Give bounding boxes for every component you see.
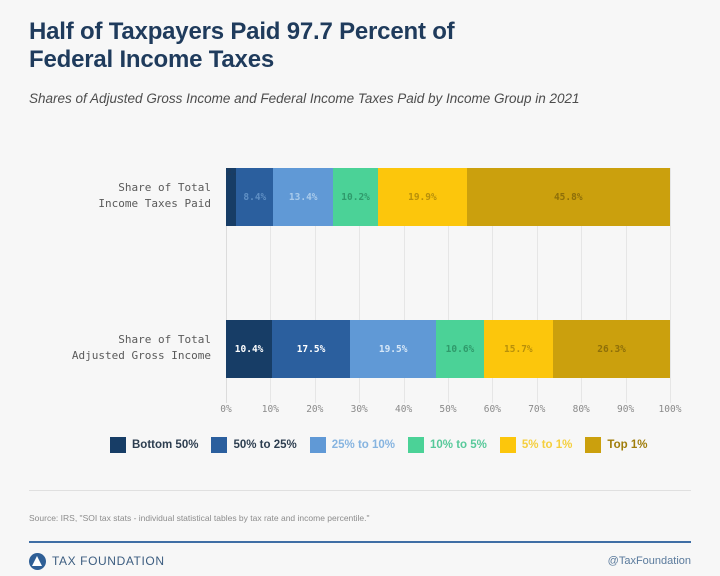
legend-swatch-icon: [585, 437, 601, 453]
footer-divider: [29, 541, 691, 543]
x-tick-label: 70%: [528, 404, 545, 415]
x-tick-label: 20%: [306, 404, 323, 415]
x-tick-label: 10%: [262, 404, 279, 415]
legend-item[interactable]: 10% to 5%: [408, 437, 487, 453]
page-title: Half of Taxpayers Paid 97.7 Percent of F…: [29, 18, 509, 75]
x-tick-label: 60%: [484, 404, 501, 415]
x-tick-label: 80%: [573, 404, 590, 415]
x-tick-label: 90%: [617, 404, 634, 415]
legend-item[interactable]: 5% to 1%: [500, 437, 573, 453]
bar-segment: 19.9%: [378, 168, 466, 226]
legend-label: 50% to 25%: [233, 439, 296, 451]
bar-segment-callout-label: 2.3%: [226, 168, 236, 178]
category-label-line2: Income Taxes Paid: [36, 196, 211, 212]
bar-segment: 17.5%: [272, 320, 350, 378]
plot-area: 2.3%8.4%13.4%10.2%19.9%45.8% 10.4%17.5%1…: [226, 148, 670, 403]
tax-foundation-logo-icon: [29, 553, 46, 570]
legend-label: 10% to 5%: [430, 439, 487, 451]
bar-segment: 8.4%: [236, 168, 273, 226]
legend-swatch-icon: [211, 437, 227, 453]
x-tick-label: 30%: [351, 404, 368, 415]
legend-item[interactable]: Bottom 50%: [110, 437, 198, 453]
footer: TAX FOUNDATION @TaxFoundation: [29, 549, 691, 573]
chart-canvas: Half of Taxpayers Paid 97.7 Percent of F…: [0, 0, 720, 576]
chart-subtitle: Shares of Adjusted Gross Income and Fede…: [29, 89, 659, 108]
bar-segment: 2.3%: [226, 168, 236, 226]
x-tick-label: 0%: [220, 404, 231, 415]
bar-segment: 45.8%: [467, 168, 670, 226]
footer-social-handle: @TaxFoundation: [608, 555, 691, 567]
x-axis: 0%10%20%30%40%50%60%70%80%90%100%: [226, 404, 670, 422]
source-divider: [29, 490, 691, 491]
bar-segment: 13.4%: [273, 168, 332, 226]
chart-legend: Bottom 50%50% to 25%25% to 10%10% to 5%5…: [110, 437, 710, 453]
footer-brand-text: TAX FOUNDATION: [52, 554, 165, 568]
bar-segment: 26.3%: [553, 320, 670, 378]
legend-swatch-icon: [110, 437, 126, 453]
category-label-line2: Adjusted Gross Income: [36, 348, 211, 364]
x-tick-label: 40%: [395, 404, 412, 415]
legend-label: 25% to 10%: [332, 439, 395, 451]
legend-item[interactable]: Top 1%: [585, 437, 647, 453]
legend-swatch-icon: [408, 437, 424, 453]
source-note: Source: IRS, "SOI tax stats - individual…: [29, 513, 370, 523]
footer-brand: TAX FOUNDATION: [29, 553, 165, 570]
legend-item[interactable]: 50% to 25%: [211, 437, 296, 453]
category-label-adjusted-gross-income: Share of Total Adjusted Gross Income: [36, 332, 211, 364]
bar-segment: 19.5%: [350, 320, 437, 378]
legend-label: Bottom 50%: [132, 439, 198, 451]
x-tick-label: 50%: [439, 404, 456, 415]
gridline: [670, 168, 671, 403]
stacked-bar-income-taxes-paid: 2.3%8.4%13.4%10.2%19.9%45.8%: [226, 168, 670, 226]
legend-swatch-icon: [500, 437, 516, 453]
category-label-income-taxes-paid: Share of Total Income Taxes Paid: [36, 180, 211, 212]
x-tick-label: 100%: [659, 404, 682, 415]
bar-segment: 10.6%: [436, 320, 483, 378]
bar-segment: 15.7%: [484, 320, 554, 378]
legend-label: Top 1%: [607, 439, 647, 451]
category-label-line1: Share of Total: [36, 180, 211, 196]
bar-segment: 10.2%: [333, 168, 378, 226]
bar-segment: 10.4%: [226, 320, 272, 378]
stacked-bar-adjusted-gross-income: 10.4%17.5%19.5%10.6%15.7%26.3%: [226, 320, 670, 378]
chart-header: Half of Taxpayers Paid 97.7 Percent of F…: [29, 18, 689, 108]
legend-swatch-icon: [310, 437, 326, 453]
legend-label: 5% to 1%: [522, 439, 573, 451]
legend-item[interactable]: 25% to 10%: [310, 437, 395, 453]
category-label-line1: Share of Total: [36, 332, 211, 348]
